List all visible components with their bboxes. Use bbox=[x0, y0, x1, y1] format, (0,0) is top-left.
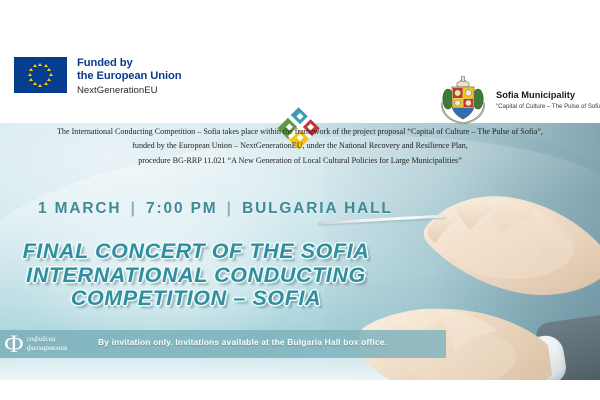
event-date: 1 MARCH bbox=[38, 200, 121, 217]
page-title: FINAL CONCERT OF THE SOFIA INTERNATIONAL… bbox=[0, 240, 392, 311]
eu-line-1: Funded by bbox=[77, 57, 181, 70]
event-venue: BULGARIA HALL bbox=[242, 200, 393, 217]
eu-funding-text: Funded by the European Union NextGenerat… bbox=[77, 57, 181, 97]
eu-star-icon bbox=[33, 82, 37, 85]
eu-star-icon bbox=[28, 73, 32, 76]
eu-star-icon bbox=[29, 78, 33, 81]
dateline-separator-2: | bbox=[224, 200, 236, 217]
title-line-1: FINAL CONCERT OF THE SOFIA bbox=[0, 240, 392, 264]
eu-star-icon bbox=[38, 63, 42, 66]
eu-star-icon bbox=[29, 68, 33, 71]
philharmonic-line-2: филхармония bbox=[27, 344, 67, 353]
eu-star-icon bbox=[47, 68, 51, 71]
event-dateline: 1 MARCH | 7:00 PM | BULGARIA HALL bbox=[38, 200, 393, 218]
framework-paragraph: The International Conducting Competition… bbox=[0, 125, 600, 168]
sofia-philharmonic-logo: Ф софийска филхармония bbox=[4, 327, 92, 361]
title-line-2: INTERNATIONAL CONDUCTING bbox=[0, 264, 392, 288]
event-time: 7:00 PM bbox=[146, 200, 217, 217]
philharmonic-monogram-icon: Ф bbox=[4, 332, 24, 357]
eu-star-icon bbox=[47, 78, 51, 81]
framework-line-1: The International Conducting Competition… bbox=[0, 125, 600, 139]
eu-star-icon bbox=[38, 84, 42, 87]
sofia-coat-of-arms-icon bbox=[437, 74, 489, 126]
sofia-municipality-name: Sofia Municipality bbox=[496, 90, 600, 101]
event-poster: Funded by the European Union NextGenerat… bbox=[0, 0, 600, 400]
funder-logo-strip: Funded by the European Union NextGenerat… bbox=[0, 19, 600, 122]
title-line-3: COMPETITION – SOFIA bbox=[0, 287, 392, 311]
eu-star-icon bbox=[49, 73, 53, 76]
sofia-municipality-logo: Sofia Municipality "Capital of Culture –… bbox=[437, 74, 600, 126]
dateline-separator-1: | bbox=[128, 200, 140, 217]
eu-star-icon bbox=[33, 64, 37, 67]
eu-flag-icon bbox=[14, 57, 67, 93]
framework-line-2: funded by the European Union – NextGener… bbox=[0, 139, 600, 153]
eu-line-2: the European Union bbox=[77, 70, 181, 83]
framework-line-3: procedure BG-RRP 11.021 “A New Generatio… bbox=[0, 154, 600, 168]
eu-funding-logo: Funded by the European Union NextGenerat… bbox=[14, 57, 181, 97]
eu-star-icon bbox=[44, 64, 48, 67]
eu-line-3: NextGenerationEU bbox=[77, 84, 181, 97]
philharmonic-line-1: софийска bbox=[27, 335, 67, 344]
philharmonic-wordmark: софийска филхармония bbox=[27, 335, 67, 353]
sofia-municipality-tagline: "Capital of Culture – The Pulse of Sofia… bbox=[496, 103, 600, 111]
sofia-municipality-text: Sofia Municipality "Capital of Culture –… bbox=[496, 90, 600, 111]
invitation-note-text: By invitation only. Invitations availabl… bbox=[98, 337, 387, 347]
eu-star-icon bbox=[44, 82, 48, 85]
